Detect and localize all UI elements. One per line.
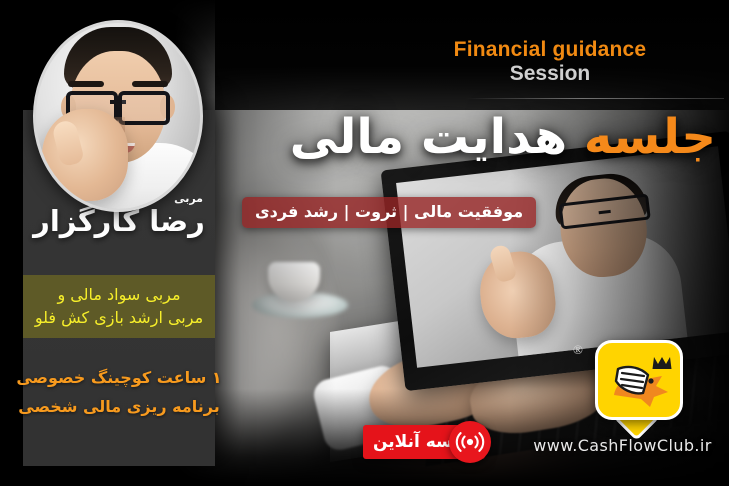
- avatar-eyebrow-right: [132, 81, 168, 87]
- credential-line-2: مربی ارشد بازی کش فلو: [35, 307, 203, 330]
- english-title-line2: Session: [380, 62, 720, 86]
- video-call-presenter: [396, 146, 729, 367]
- headline-accent-word: جلسه: [584, 109, 716, 165]
- brand-website-url[interactable]: www.CashFlowClub.ir: [520, 436, 725, 455]
- credential-line-1: مربی سواد مالی و: [57, 284, 180, 307]
- live-broadcast-icon: [449, 421, 491, 463]
- presenter-credentials-box: مربی سواد مالی و مربی ارشد بازی کش فلو: [23, 275, 215, 338]
- avatar-eyebrow-left: [68, 81, 104, 87]
- offer-line-1: ۱ ساعت کوچینگ خصوصی: [16, 368, 221, 387]
- promo-banner: Financial guidance Session جلسه هدایت ما…: [0, 0, 729, 486]
- subtitle-strip: موفقیت مالی | ثروت | رشد فردی: [242, 197, 536, 228]
- laptop-screen-content: [396, 146, 729, 367]
- avatar-pointing-arm: [42, 109, 128, 201]
- headline-plain-words: هدایت مالی: [290, 109, 567, 165]
- brand-logo[interactable]: ®: [595, 340, 677, 432]
- english-title-line1: Financial guidance: [380, 38, 720, 62]
- winged-horse-icon: [604, 343, 680, 411]
- registered-trademark-icon: ®: [573, 342, 583, 358]
- logo-bubble: [595, 340, 683, 420]
- offer-line-2: برنامه ریزی مالی شخصی: [18, 397, 219, 416]
- english-title-block: Financial guidance Session: [380, 38, 720, 85]
- presenter-offers-box: ۱ ساعت کوچینگ خصوصی برنامه ریزی مالی شخص…: [23, 350, 215, 434]
- header-divider-line: [466, 98, 724, 99]
- avatar-lens-right: [118, 91, 170, 125]
- page-title: جلسه هدایت مالی: [236, 112, 716, 163]
- avatar: [33, 20, 203, 212]
